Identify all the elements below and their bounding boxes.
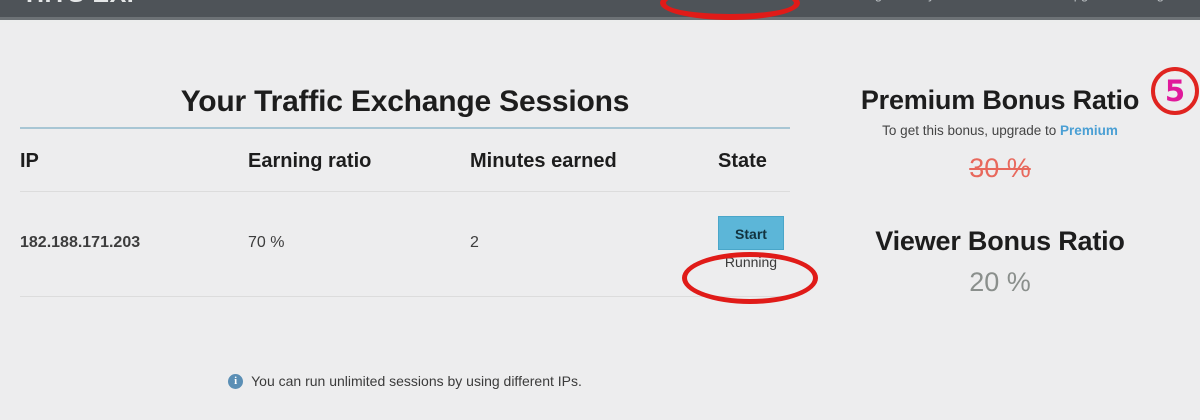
premium-bonus-subtitle: To get this bonus, upgrade to Premium [815,123,1185,138]
sessions-panel: Your Traffic Exchange Sessions IP Earnin… [20,85,790,297]
brand-logo[interactable]: HITS EXP [26,0,144,9]
nav-link-credits[interactable]: Credits [995,0,1036,2]
info-icon: i [228,374,243,389]
sessions-table-body: 182.188.171.203 70 % 2 Start Running [20,192,790,297]
sessions-table-head: IP Earning ratio Minutes earned State [20,129,790,192]
premium-bonus-value: 30 % [815,153,1185,184]
nav-link-upgrade[interactable]: Upgrade [1064,0,1114,2]
cell-state: Start Running [718,192,790,297]
bonus-panel: Premium Bonus Ratio To get this bonus, u… [815,85,1185,298]
nav-link-my-sites[interactable]: My Sites [917,0,967,2]
nav-link-dashboard[interactable]: Dashboard [701,0,765,2]
premium-bonus-block: Premium Bonus Ratio To get this bonus, u… [815,85,1185,184]
column-header-earning-ratio: Earning ratio [248,129,470,192]
sessions-table: IP Earning ratio Minutes earned State 18… [20,129,790,297]
sessions-footer-note: i You can run unlimited sessions by usin… [20,373,790,389]
column-header-minutes-earned: Minutes earned [470,129,718,192]
footer-note-text: You can run unlimited sessions by using … [251,373,582,389]
cell-minutes-earned: 2 [470,192,718,297]
navbar-inner: HITS EXP Dashboard Traffic Exchange My S… [0,0,1200,18]
page-title: Your Traffic Exchange Sessions [20,85,790,127]
premium-bonus-title: Premium Bonus Ratio [815,85,1185,116]
navbar-links: Dashboard Traffic Exchange My Sites Cred… [701,0,1182,2]
column-header-ip: IP [20,129,248,192]
page-body: Your Traffic Exchange Sessions IP Earnin… [0,23,1200,420]
start-button[interactable]: Start [718,216,784,250]
viewer-bonus-block: Viewer Bonus Ratio 20 % [815,226,1185,298]
session-state-label: Running [718,254,784,270]
nav-link-logout[interactable]: Logout [1142,0,1182,2]
cell-ip: 182.188.171.203 [20,192,248,297]
premium-subtitle-text: To get this bonus, upgrade to [882,123,1060,138]
viewer-bonus-title: Viewer Bonus Ratio [815,226,1185,257]
annotation-step-number: 5 [1165,77,1185,106]
brand-logo-text: HITS EXP [26,0,144,8]
cell-earning-ratio: 70 % [248,192,470,297]
premium-upgrade-link[interactable]: Premium [1060,123,1118,138]
annotation-step-badge: 5 [1151,67,1199,115]
column-header-state: State [718,129,790,192]
table-row: 182.188.171.203 70 % 2 Start Running [20,192,790,297]
nav-link-traffic-exchange[interactable]: Traffic Exchange [793,0,890,2]
viewer-bonus-value: 20 % [815,267,1185,298]
table-header-row: IP Earning ratio Minutes earned State [20,129,790,192]
top-navbar: HITS EXP Dashboard Traffic Exchange My S… [0,0,1200,20]
